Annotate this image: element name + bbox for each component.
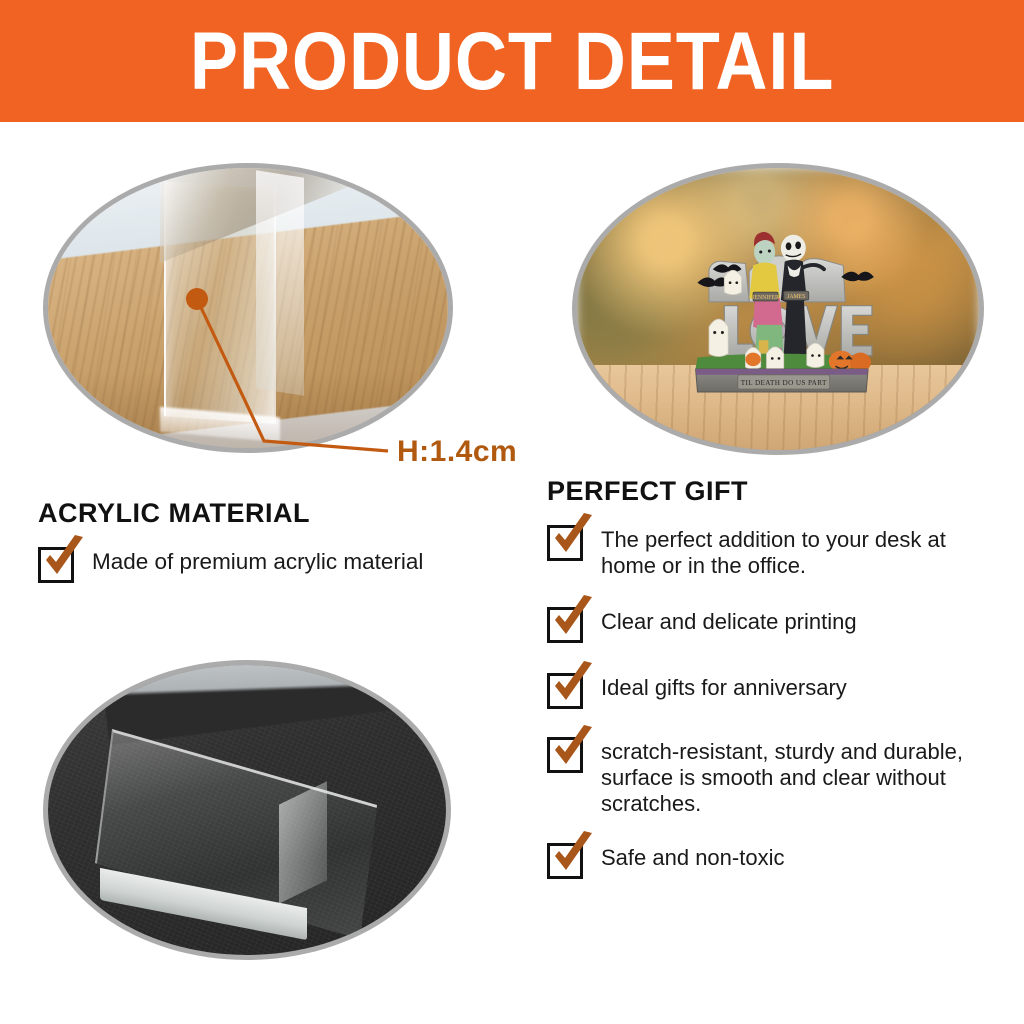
feature-item: Made of premium acrylic material (38, 545, 518, 583)
feature-text: Safe and non-toxic (601, 841, 784, 871)
feature-text: Made of premium acrylic material (92, 545, 423, 576)
love-sculpture: JENNIFER JAMES (653, 208, 902, 405)
page-header-banner: PRODUCT DETAIL (0, 0, 1024, 122)
checkmark-icon (547, 724, 599, 776)
checkmark-icon (547, 660, 599, 712)
feature-text: Ideal gifts for anniversary (601, 671, 847, 701)
checkbox[interactable] (547, 737, 583, 773)
feature-item: Safe and non-toxic (547, 841, 1002, 879)
checkmark-icon (547, 830, 599, 882)
checkmark-icon (547, 512, 599, 564)
feature-item: Ideal gifts for anniversary (547, 671, 1002, 709)
figurine-scene: JENNIFER JAMES (577, 168, 979, 450)
section-acrylic-material: ACRYLIC MATERIAL Made of premium acrylic… (38, 498, 518, 605)
photo-figurine: JENNIFER JAMES (572, 163, 984, 455)
feature-item: scratch-resistant, sturdy and durable, s… (547, 735, 1002, 817)
plaque-name-left: JENNIFER (752, 294, 779, 300)
section-title-acrylic-material: ACRYLIC MATERIAL (38, 498, 518, 529)
block-flat-scene (48, 665, 446, 955)
checkbox[interactable] (38, 547, 74, 583)
checkmark-icon (38, 534, 90, 586)
photo-acrylic-block-flat (43, 660, 451, 960)
feature-item: The perfect addition to your desk at hom… (547, 523, 1002, 579)
feature-text: Clear and delicate printing (601, 605, 857, 635)
feature-item: Clear and delicate printing (547, 605, 1002, 643)
checkbox[interactable] (547, 843, 583, 879)
love-sculpture-art: JENNIFER JAMES (653, 208, 902, 405)
checkbox[interactable] (547, 673, 583, 709)
height-callout-label: H:1.4cm (397, 435, 517, 469)
checkmark-icon (547, 594, 599, 646)
section-perfect-gift: PERFECT GIFT The perfect addition to you… (547, 476, 1002, 879)
sculpture-plaque-text: TIL DEATH DO US PART (741, 379, 827, 387)
feature-text: The perfect addition to your desk at hom… (601, 523, 1002, 579)
checkbox[interactable] (547, 525, 583, 561)
acrylic-edge-scene (48, 168, 448, 448)
page-title: PRODUCT DETAIL (190, 21, 834, 103)
acrylic-block-side-face (256, 170, 304, 396)
checkbox[interactable] (547, 607, 583, 643)
photo-acrylic-edge (43, 163, 453, 453)
section-title-perfect-gift: PERFECT GIFT (547, 476, 1002, 507)
feature-text: scratch-resistant, sturdy and durable, s… (601, 735, 1002, 817)
plaque-name-right: JAMES (787, 294, 805, 300)
callout-marker-dot (186, 288, 208, 310)
product-detail-page: PRODUCT DETAIL (0, 0, 1024, 1024)
